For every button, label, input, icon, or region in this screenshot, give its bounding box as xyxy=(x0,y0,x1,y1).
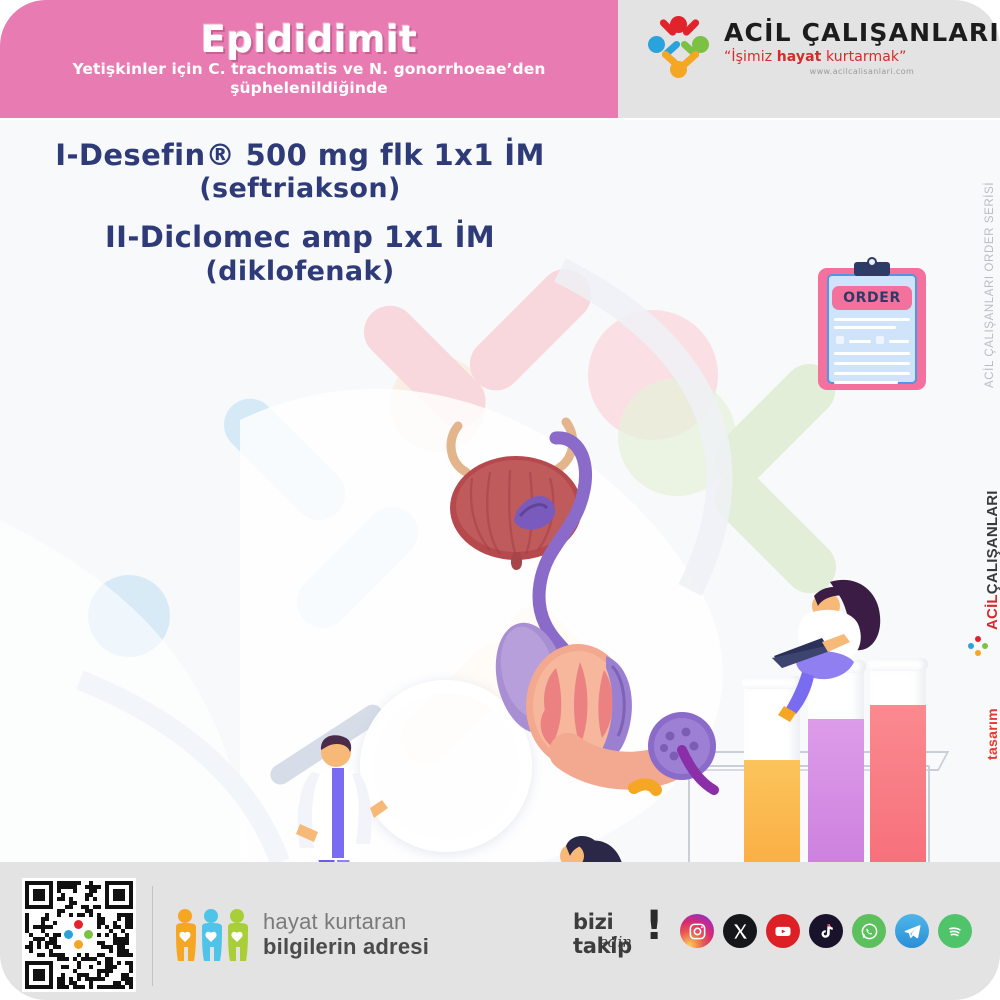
tube-purple-fluid xyxy=(808,719,864,862)
infographic-card: Epididimit Yetişkinler için C. trachomat… xyxy=(0,0,1000,1000)
whatsapp-icon[interactable] xyxy=(852,914,886,948)
prescription-item: II-Diclomec amp 1x1 İM (diklofenak) xyxy=(0,220,600,288)
footer: hayat kurtaran bilgilerin adresi bizi ta… xyxy=(0,862,1000,1000)
header-title-block: Epididimit Yetişkinler için C. trachomat… xyxy=(0,0,618,118)
prescription-block: I-Desefin® 500 mg flk 1x1 İM (seftriakso… xyxy=(0,138,600,303)
tube-orange-fluid xyxy=(744,760,800,862)
tagline-line-2: bilgilerin adresi xyxy=(263,935,429,960)
page-subtitle: Yetişkinler için C. trachomatis ve N. go… xyxy=(0,60,618,97)
brand-text: ACİL ÇALIŞANLARI “İşimiz hayat kurtarmak… xyxy=(724,20,1000,76)
page-title: Epididimit xyxy=(201,21,418,58)
brand-name: ACİL ÇALIŞANLARI xyxy=(724,20,1000,45)
three-people-icon xyxy=(172,907,250,963)
order-clipboard-icon: ORDER xyxy=(818,260,930,392)
instagram-icon[interactable] xyxy=(680,914,714,948)
prescription-item: I-Desefin® 500 mg flk 1x1 İM (seftriakso… xyxy=(0,138,600,206)
female-scientist-with-beaker-illustration xyxy=(528,826,648,862)
clipboard-label: ORDER xyxy=(843,290,901,306)
tiktok-icon[interactable] xyxy=(809,914,843,948)
footer-divider xyxy=(152,886,153,986)
rail-logomark-icon xyxy=(968,636,988,656)
tagline-line-1: hayat kurtaran xyxy=(263,910,429,935)
x-twitter-icon[interactable] xyxy=(723,914,757,948)
rail-brand-rest: ÇALIŞANLARI xyxy=(984,490,1000,594)
follow-line-2: edin xyxy=(599,933,632,951)
header-brand-block: ACİL ÇALIŞANLARI “İşimiz hayat kurtarmak… xyxy=(618,0,1000,118)
social-follow-block: bizi takip edin ! xyxy=(573,908,972,954)
brand-slogan: “İşimiz hayat kurtarmak” xyxy=(724,50,1000,64)
acil-calisanlari-logomark-icon xyxy=(648,16,712,80)
content-canvas: I-Desefin® 500 mg flk 1x1 İM (seftriakso… xyxy=(0,120,1000,862)
follow-label: bizi takip edin ! xyxy=(573,908,669,954)
series-label: ACİL ÇALIŞANLARI ORDER SERİSİ xyxy=(984,182,996,388)
qr-code-canvas xyxy=(25,881,133,989)
tube-pink-fluid xyxy=(870,705,926,862)
slogan-suffix: kurtarmak” xyxy=(821,49,906,65)
male-reproductive-anatomy-illustration xyxy=(428,416,738,856)
telegram-icon[interactable] xyxy=(895,914,929,948)
doctor-with-magnifier-illustration xyxy=(278,708,408,862)
header: Epididimit Yetişkinler için C. trachomat… xyxy=(0,0,1000,120)
tagline-block: hayat kurtaran bilgilerin adresi xyxy=(172,907,429,963)
slogan-prefix: “İşimiz xyxy=(724,49,777,65)
woman-with-laptop-illustration xyxy=(752,572,902,722)
youtube-icon[interactable] xyxy=(766,914,800,948)
brand-url: www.acilcalisanlari.com xyxy=(724,68,1000,76)
designer-label: tasarım xyxy=(984,708,1000,760)
qr-code[interactable] xyxy=(22,878,136,992)
prescription-generic-2: (diklofenak) xyxy=(0,256,600,289)
rail-brand-acil: ACİL xyxy=(984,594,1000,630)
prescription-drug-2: II-Diclomec amp 1x1 İM xyxy=(0,220,600,255)
brand-logo: ACİL ÇALIŞANLARI “İşimiz hayat kurtarmak… xyxy=(648,16,1000,80)
slogan-bold: hayat xyxy=(777,49,822,65)
rail-brand-label: ACİLÇALIŞANLARI xyxy=(984,490,1000,630)
prescription-drug-1: I-Desefin® 500 mg flk 1x1 İM xyxy=(0,138,600,173)
follow-exclamation: ! xyxy=(645,906,663,946)
spotify-icon[interactable] xyxy=(938,914,972,948)
right-vertical-rail: ACİL ÇALIŞANLARI ORDER SERİSİ ACİLÇALIŞA… xyxy=(958,120,1000,862)
qr-center-logo-icon xyxy=(63,919,95,951)
prescription-generic-1: (seftriakson) xyxy=(0,173,600,206)
